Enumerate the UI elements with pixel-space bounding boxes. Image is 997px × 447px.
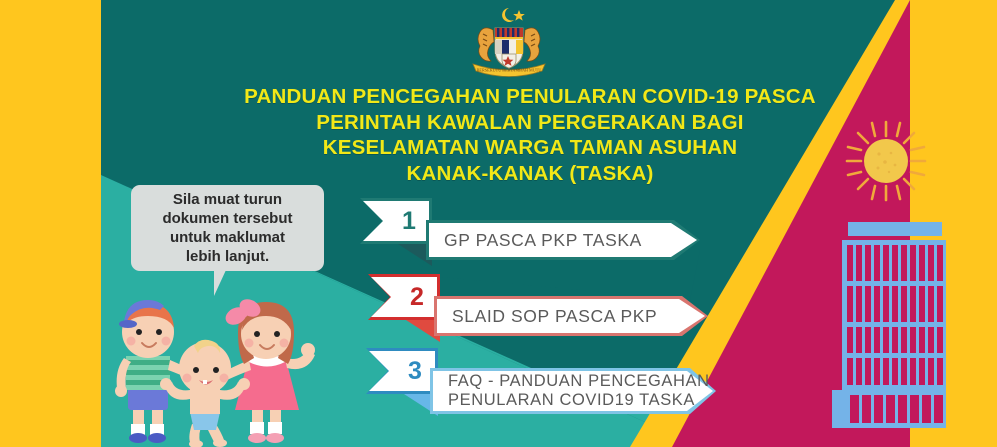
poster-title: PANDUAN PENCEGAHAN PENULARAN COVID-19 PA… (180, 84, 880, 186)
sun-icon (845, 120, 927, 202)
title-line-4: KANAK-KANAK (TASKA) (180, 161, 880, 187)
document-link-row-1[interactable]: 1 GP PASCA PKP TASKA (360, 198, 700, 260)
instruction-line-4: lebih lanjut. (162, 247, 292, 266)
link-label-2-line-1: SLAID SOP PASCA PKP (452, 306, 657, 326)
title-line-1: PANDUAN PENCEGAHAN PENULARAN COVID-19 PA… (180, 84, 880, 110)
instruction-line-3: untuk maklumat (162, 228, 292, 247)
jata-negara-icon: BERSEKUTU BERTAMBAH MUTU (463, 4, 555, 80)
step-badge-1: 1 (360, 198, 432, 244)
link-label-3: FAQ - PANDUAN PENCEGAHAN PENULARAN COVID… (448, 368, 712, 414)
document-link-row-2[interactable]: 2 SLAID SOP PASCA PKP (368, 274, 708, 336)
background-yellow-left-band (0, 0, 101, 447)
svg-text:BERSEKUTU BERTAMBAH MUTU: BERSEKUTU BERTAMBAH MUTU (477, 68, 542, 73)
girl-figure (223, 296, 315, 443)
link-label-3-line-2: PENULARAN COVID19 TASKA (448, 391, 695, 410)
badge-number-2: 2 (394, 274, 440, 320)
link-label-1: GP PASCA PKP TASKA (444, 220, 696, 260)
step-badge-2: 2 (368, 274, 440, 320)
title-line-2: PERINTAH KAWALAN PERGERAKAN BAGI (180, 110, 880, 136)
baby-figure (160, 340, 250, 447)
title-line-3: KESELAMATAN WARGA TAMAN ASUHAN (180, 135, 880, 161)
link-label-2: SLAID SOP PASCA PKP (452, 296, 704, 336)
instruction-line-2: dokumen tersebut (162, 209, 292, 228)
document-link-row-3[interactable]: 3 FAQ - PANDUAN PENCEGAHAN PENULARAN COV… (366, 348, 716, 414)
poster-canvas: BERSEKUTU BERTAMBAH MUTU PANDUAN PENCEGA… (0, 0, 997, 447)
children-illustration (104, 284, 316, 447)
instruction-text: Sila muat turun dokumen tersebut untuk m… (156, 190, 298, 266)
step-badge-3: 3 (366, 348, 438, 394)
link-label-1-line-1: GP PASCA PKP TASKA (444, 230, 642, 250)
link-label-3-line-1: FAQ - PANDUAN PENCEGAHAN (448, 372, 710, 391)
instruction-line-1: Sila muat turun (162, 190, 292, 209)
instruction-speech-bubble: Sila muat turun dokumen tersebut untuk m… (131, 185, 324, 271)
badge-number-1: 1 (386, 198, 432, 244)
window-grid-illustration (820, 222, 950, 430)
